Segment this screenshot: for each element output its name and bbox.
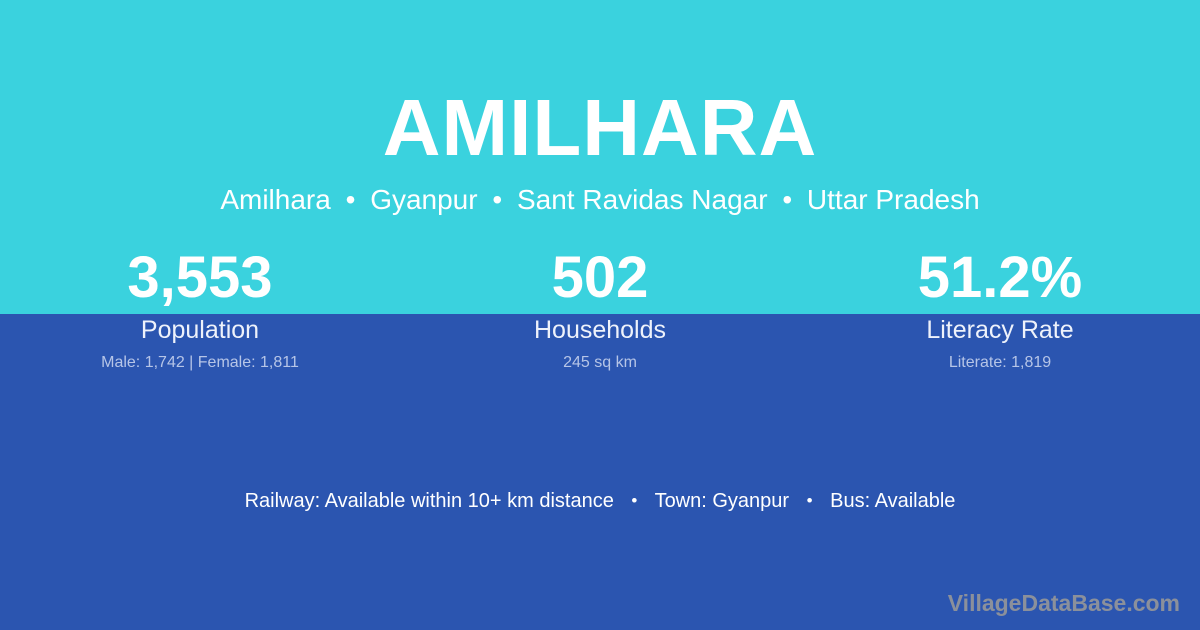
stat-value-population: 3,553: [0, 243, 400, 313]
amenities-line: Railway: Available within 10+ km distanc…: [0, 487, 1200, 515]
breadcrumb-item-village: Amilhara: [220, 184, 330, 215]
breadcrumb-separator: •: [775, 184, 799, 215]
amenity-separator: •: [795, 491, 825, 510]
stat-label-households: Households: [400, 314, 800, 346]
breadcrumb-separator: •: [485, 184, 509, 215]
breadcrumb-item-district: Sant Ravidas Nagar: [517, 184, 768, 215]
stat-population: 3,553 Population Male: 1,742 | Female: 1…: [0, 243, 400, 374]
amenity-bus: Bus: Available: [830, 490, 955, 512]
stat-sub-population: Male: 1,742 | Female: 1,811: [0, 352, 400, 374]
amenity-railway: Railway: Available within 10+ km distanc…: [245, 490, 614, 512]
stat-value-households: 502: [400, 243, 800, 313]
stat-sub-literacy-rate: Literate: 1,819: [800, 352, 1200, 374]
stat-literacy-rate: 51.2% Literacy Rate Literate: 1,819: [800, 243, 1200, 374]
stat-label-literacy-rate: Literacy Rate: [800, 314, 1200, 346]
village-info-card: AMILHARA Amilhara • Gyanpur • Sant Ravid…: [0, 0, 1200, 630]
stat-sub-households: 245 sq km: [400, 352, 800, 374]
stats-row: 3,553 Population Male: 1,742 | Female: 1…: [0, 243, 1200, 374]
breadcrumb-separator: •: [339, 184, 363, 215]
amenity-town: Town: Gyanpur: [655, 490, 790, 512]
stat-households: 502 Households 245 sq km: [400, 243, 800, 374]
breadcrumb-item-state: Uttar Pradesh: [807, 184, 980, 215]
stat-label-population: Population: [0, 314, 400, 346]
stat-value-literacy-rate: 51.2%: [800, 243, 1200, 313]
breadcrumb: Amilhara • Gyanpur • Sant Ravidas Nagar …: [0, 182, 1200, 218]
amenity-separator: •: [619, 491, 649, 510]
breadcrumb-item-block: Gyanpur: [370, 184, 477, 215]
page-title: AMILHARA: [0, 80, 1200, 176]
site-watermark: VillageDataBase.com: [948, 588, 1180, 618]
